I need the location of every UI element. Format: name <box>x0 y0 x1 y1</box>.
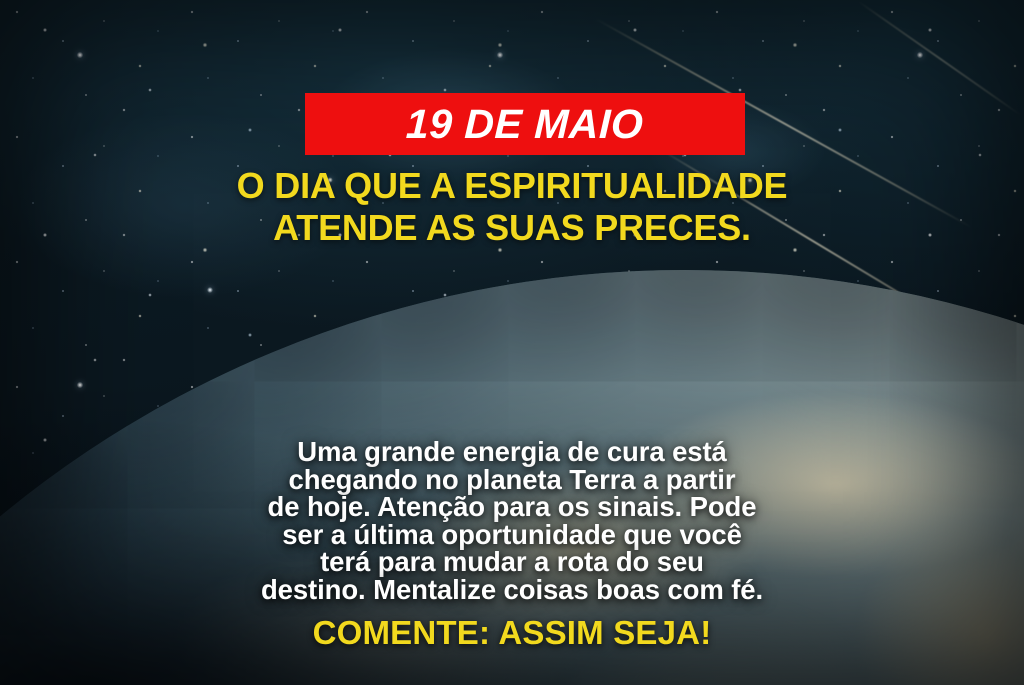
date-banner-label: 19 DE MAIO <box>406 104 645 145</box>
body-line: ser a última oportunidade que você <box>48 521 976 549</box>
body-paragraph: Uma grande energia de cura está chegando… <box>0 438 1024 603</box>
call-to-action-text: COMENTE: ASSIM SEJA! <box>0 616 1024 649</box>
headline: O DIA QUE A ESPIRITUALIDADE ATENDE AS SU… <box>0 165 1024 249</box>
body-line: de hoje. Atenção para os sinais. Pode <box>48 493 976 521</box>
headline-line-1: O DIA QUE A ESPIRITUALIDADE <box>237 165 788 206</box>
date-banner: 19 DE MAIO <box>305 93 745 155</box>
body-line: chegando no planeta Terra a partir <box>48 466 976 494</box>
content-layer: 19 DE MAIO O DIA QUE A ESPIRITUALIDADE A… <box>0 0 1024 685</box>
headline-line-2: ATENDE AS SUAS PRECES. <box>273 207 751 248</box>
body-line: destino. Mentalize coisas boas com fé. <box>48 576 976 604</box>
poster-root: 19 DE MAIO O DIA QUE A ESPIRITUALIDADE A… <box>0 0 1024 685</box>
body-line: terá para mudar a rota do seu <box>48 548 976 576</box>
body-line: Uma grande energia de cura está <box>48 438 976 466</box>
